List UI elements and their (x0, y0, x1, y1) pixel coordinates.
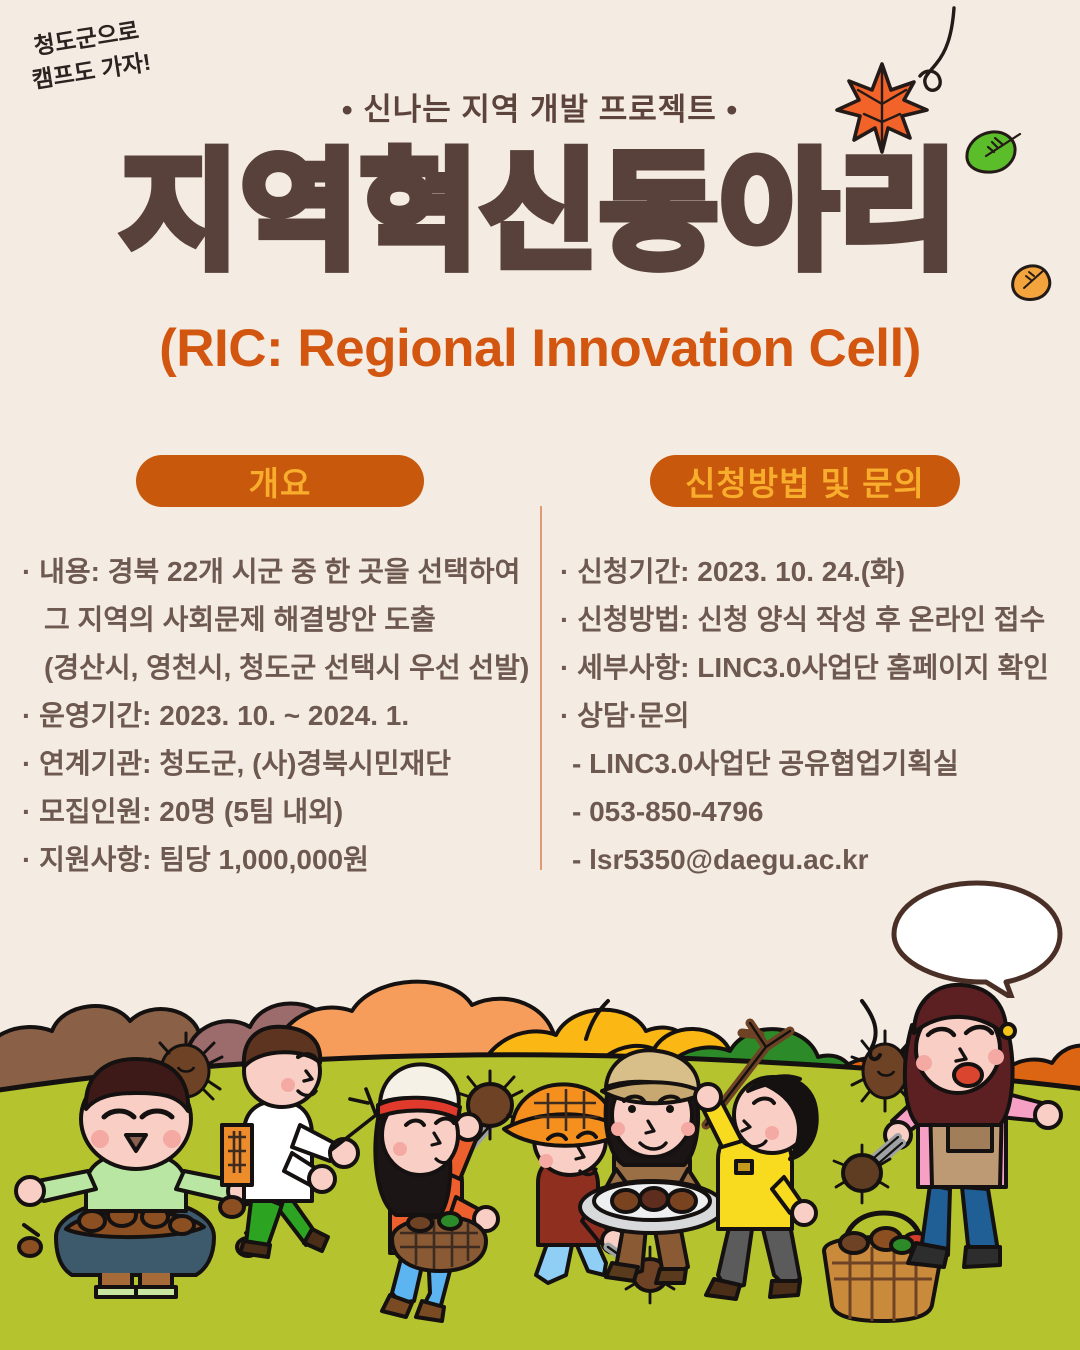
maple-leaf-icon (832, 52, 932, 157)
speech-bubble-line1: 청도군으로 (0, 8, 177, 69)
list-item-email: - lsr5350@daegu.ac.kr (560, 836, 1060, 884)
autumn-scene-illustration (0, 975, 1080, 1350)
badge-overview-label: 개요 (249, 457, 312, 505)
list-item: · 신청기간: 2023. 10. 24.(화) (560, 548, 1060, 596)
list-item: · 세부사항: LINC3.0사업단 홈페이지 확인 (560, 644, 1060, 692)
poster-root: • 신나는 지역 개발 프로젝트 • 지역혁신동아리 (RIC: Regiona… (0, 0, 1080, 1350)
list-item: - 053-850-4796 (560, 788, 1060, 836)
list-item: · 운영기간: 2023. 10. ~ 2024. 1. (22, 692, 522, 740)
badge-apply: 신청방법 및 문의 (650, 455, 960, 507)
page-title: 지역혁신동아리 (0, 146, 1080, 280)
list-item: · 모집인원: 20명 (5팀 내외) (22, 788, 522, 836)
poster-english-title: (RIC: Regional Innovation Cell) (0, 318, 1080, 379)
badge-apply-label: 신청방법 및 문의 (685, 457, 925, 505)
speech-bubble (888, 880, 1066, 998)
list-item: · 지원사항: 팀당 1,000,000원 (22, 836, 522, 884)
green-leaf-icon (962, 128, 1024, 176)
list-item: · 내용: 경북 22개 시군 중 한 곳을 선택하여 (22, 548, 522, 596)
overview-content: · 내용: 경북 22개 시군 중 한 곳을 선택하여 그 지역의 사회문제 해… (22, 548, 522, 884)
badge-overview: 개요 (136, 455, 424, 507)
list-item: - LINC3.0사업단 공유협업기획실 (560, 740, 1060, 788)
small-leaf-icon (1008, 262, 1056, 304)
list-item: (경산시, 영천시, 청도군 선택시 우선 선발) (22, 644, 522, 692)
list-item: · 신청방법: 신청 양식 작성 후 온라인 접수 (560, 596, 1060, 644)
list-item: · 연계기관: 청도군, (사)경북시민재단 (22, 740, 522, 788)
apply-content: · 신청기간: 2023. 10. 24.(화) · 신청방법: 신청 양식 작… (560, 548, 1060, 884)
list-item: 그 지역의 사회문제 해결방안 도출 (22, 596, 522, 644)
column-divider (540, 506, 542, 870)
list-item: · 상담·문의 (560, 692, 1060, 740)
